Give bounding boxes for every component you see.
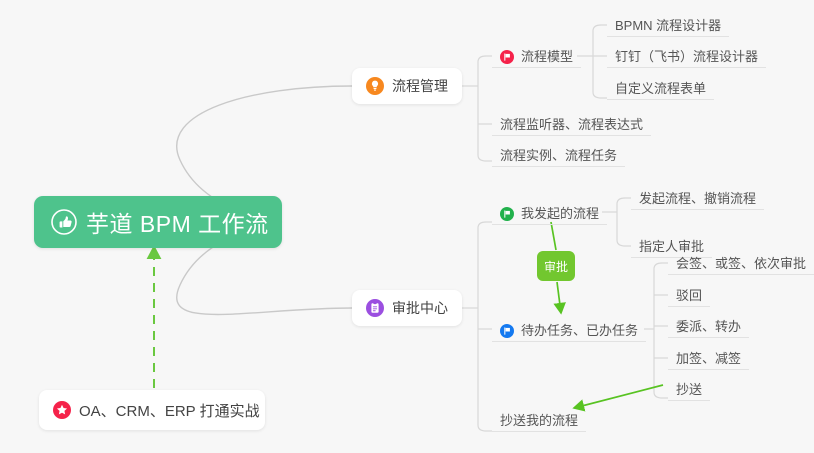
wire-ac-child-3 [478, 425, 492, 431]
approve-chip[interactable]: 审批 [537, 251, 575, 281]
node-process-management-label: 流程管理 [392, 76, 448, 96]
flag-icon-red [500, 50, 514, 64]
node-bpmn-designer[interactable]: BPMN 流程设计器 [607, 11, 729, 37]
node-add-remove-sign-label: 加签、减签 [676, 351, 741, 366]
wire-pm-child-1 [478, 56, 492, 62]
star-icon [53, 401, 71, 419]
node-bpmn-designer-label: BPMN 流程设计器 [615, 18, 721, 33]
wire-model-child-3 [593, 92, 607, 98]
lightbulb-icon [366, 77, 384, 95]
wire-todo-child-5 [654, 392, 668, 398]
wire-model-child-1 [593, 25, 607, 31]
wire-approve-arrow-upper [551, 222, 556, 250]
node-cc-to-me-process-label: 抄送我的流程 [500, 413, 578, 428]
node-my-initiated-process[interactable]: 我发起的流程 [492, 199, 607, 225]
node-custom-process-form[interactable]: 自定义流程表单 [607, 74, 714, 100]
node-todo-done-tasks[interactable]: 待办任务、已办任务 [492, 316, 646, 342]
node-my-initiated-process-label: 我发起的流程 [521, 206, 599, 221]
wire-mine-child-2 [617, 240, 631, 246]
root-node[interactable]: 芋道 BPM 工作流 [34, 196, 282, 248]
root-label: 芋道 BPM 工作流 [86, 205, 269, 239]
wire-ac-child-1 [478, 222, 492, 228]
node-process-model-label: 流程模型 [521, 49, 573, 64]
node-process-instance-task-label: 流程实例、流程任务 [500, 148, 617, 163]
node-approval-center[interactable]: 审批中心 [352, 290, 462, 326]
clipboard-icon [366, 299, 384, 317]
thumbs-up-icon [51, 209, 77, 235]
node-dingtalk-feishu-designer-label: 钉钉（飞书）流程设计器 [615, 49, 758, 64]
wire-cc-arrow [574, 385, 663, 408]
node-delegate-transfer-label: 委派、转办 [676, 319, 741, 334]
node-start-cancel-process[interactable]: 发起流程、撤销流程 [631, 184, 764, 210]
wire-approve-arrow-lower [557, 282, 561, 313]
node-cc-to-me-process[interactable]: 抄送我的流程 [492, 406, 586, 432]
node-custom-process-form-label: 自定义流程表单 [615, 81, 706, 96]
node-carbon-copy[interactable]: 抄送 [668, 375, 710, 401]
node-process-instance-task[interactable]: 流程实例、流程任务 [492, 141, 625, 167]
wire-pm-child-3 [478, 155, 492, 161]
node-add-remove-sign[interactable]: 加签、减签 [668, 344, 749, 370]
node-process-listener-expression-label: 流程监听器、流程表达式 [500, 117, 643, 132]
node-process-listener-expression[interactable]: 流程监听器、流程表达式 [492, 110, 651, 136]
wire-mine-child-1 [617, 198, 631, 204]
node-reject[interactable]: 驳回 [668, 281, 710, 307]
node-reject-label: 驳回 [676, 288, 702, 303]
node-countersign-orsign-sequential[interactable]: 会签、或签、依次审批 [668, 249, 814, 275]
mindmap-canvas: 芋道 BPM 工作流 流程管理 审批中心 [0, 0, 814, 453]
node-todo-done-tasks-label: 待办任务、已办任务 [521, 323, 638, 338]
approve-chip-label: 审批 [544, 258, 568, 275]
node-approval-center-label: 审批中心 [392, 298, 448, 318]
flag-icon-green [500, 207, 514, 221]
node-integration-practice[interactable]: OA、CRM、ERP 打通实战 [39, 390, 265, 430]
node-delegate-transfer[interactable]: 委派、转办 [668, 312, 749, 338]
flag-icon-blue [500, 324, 514, 338]
wire-todo-child-1 [654, 263, 668, 269]
node-process-management[interactable]: 流程管理 [352, 68, 462, 104]
node-dingtalk-feishu-designer[interactable]: 钉钉（飞书）流程设计器 [607, 42, 766, 68]
node-integration-practice-label: OA、CRM、ERP 打通实战 [79, 400, 260, 421]
node-carbon-copy-label: 抄送 [676, 382, 702, 397]
node-process-model[interactable]: 流程模型 [492, 42, 581, 68]
node-countersign-orsign-sequential-label: 会签、或签、依次审批 [676, 256, 806, 271]
node-start-cancel-process-label: 发起流程、撤销流程 [639, 191, 756, 206]
